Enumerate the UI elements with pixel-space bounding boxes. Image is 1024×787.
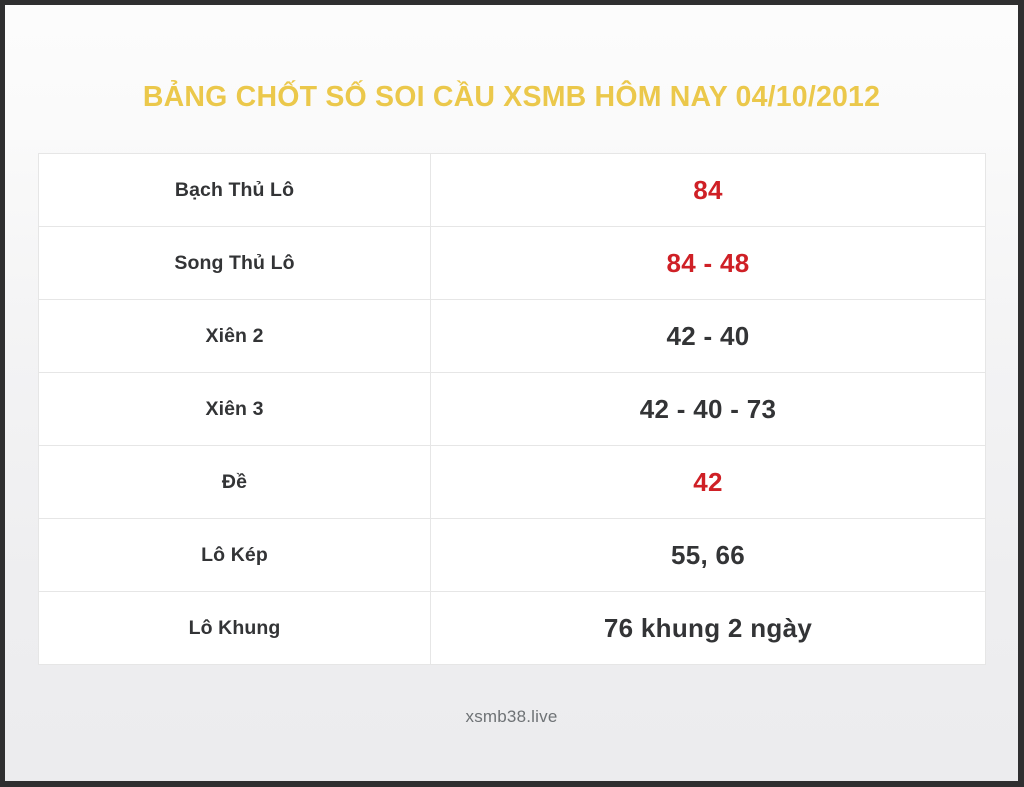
row-label: Xiên 2: [39, 300, 431, 373]
row-label: Lô Kép: [39, 519, 431, 592]
page-title: BẢNG CHỐT SỐ SOI CẦU XSMB HÔM NAY 04/10/…: [5, 81, 1018, 114]
row-value: 84 - 48: [431, 227, 986, 300]
row-label: Bạch Thủ Lô: [39, 154, 431, 227]
image-frame: BẢNG CHỐT SỐ SOI CẦU XSMB HÔM NAY 04/10/…: [0, 0, 1024, 787]
table-row: Xiên 3 42 - 40 - 73: [39, 373, 986, 446]
row-value: 76 khung 2 ngày: [431, 592, 986, 665]
table-row: Bạch Thủ Lô 84: [39, 154, 986, 227]
table-row: Đề 42: [39, 446, 986, 519]
table-row: Lô Kép 55, 66: [39, 519, 986, 592]
row-value: 42: [431, 446, 986, 519]
row-label: Song Thủ Lô: [39, 227, 431, 300]
table-row: Song Thủ Lô 84 - 48: [39, 227, 986, 300]
prediction-table-container: Bạch Thủ Lô 84 Song Thủ Lô 84 - 48 Xiên …: [38, 153, 986, 665]
row-label: Xiên 3: [39, 373, 431, 446]
row-value: 42 - 40 - 73: [431, 373, 986, 446]
table-row: Xiên 2 42 - 40: [39, 300, 986, 373]
row-value: 55, 66: [431, 519, 986, 592]
row-label: Lô Khung: [39, 592, 431, 665]
table-body: Bạch Thủ Lô 84 Song Thủ Lô 84 - 48 Xiên …: [39, 154, 986, 665]
row-value: 42 - 40: [431, 300, 986, 373]
table-row: Lô Khung 76 khung 2 ngày: [39, 592, 986, 665]
row-label: Đề: [39, 446, 431, 519]
site-watermark: xsmb38.live: [5, 707, 1018, 727]
prediction-table: Bạch Thủ Lô 84 Song Thủ Lô 84 - 48 Xiên …: [38, 153, 986, 665]
page-canvas: BẢNG CHỐT SỐ SOI CẦU XSMB HÔM NAY 04/10/…: [5, 5, 1018, 781]
row-value: 84: [431, 154, 986, 227]
